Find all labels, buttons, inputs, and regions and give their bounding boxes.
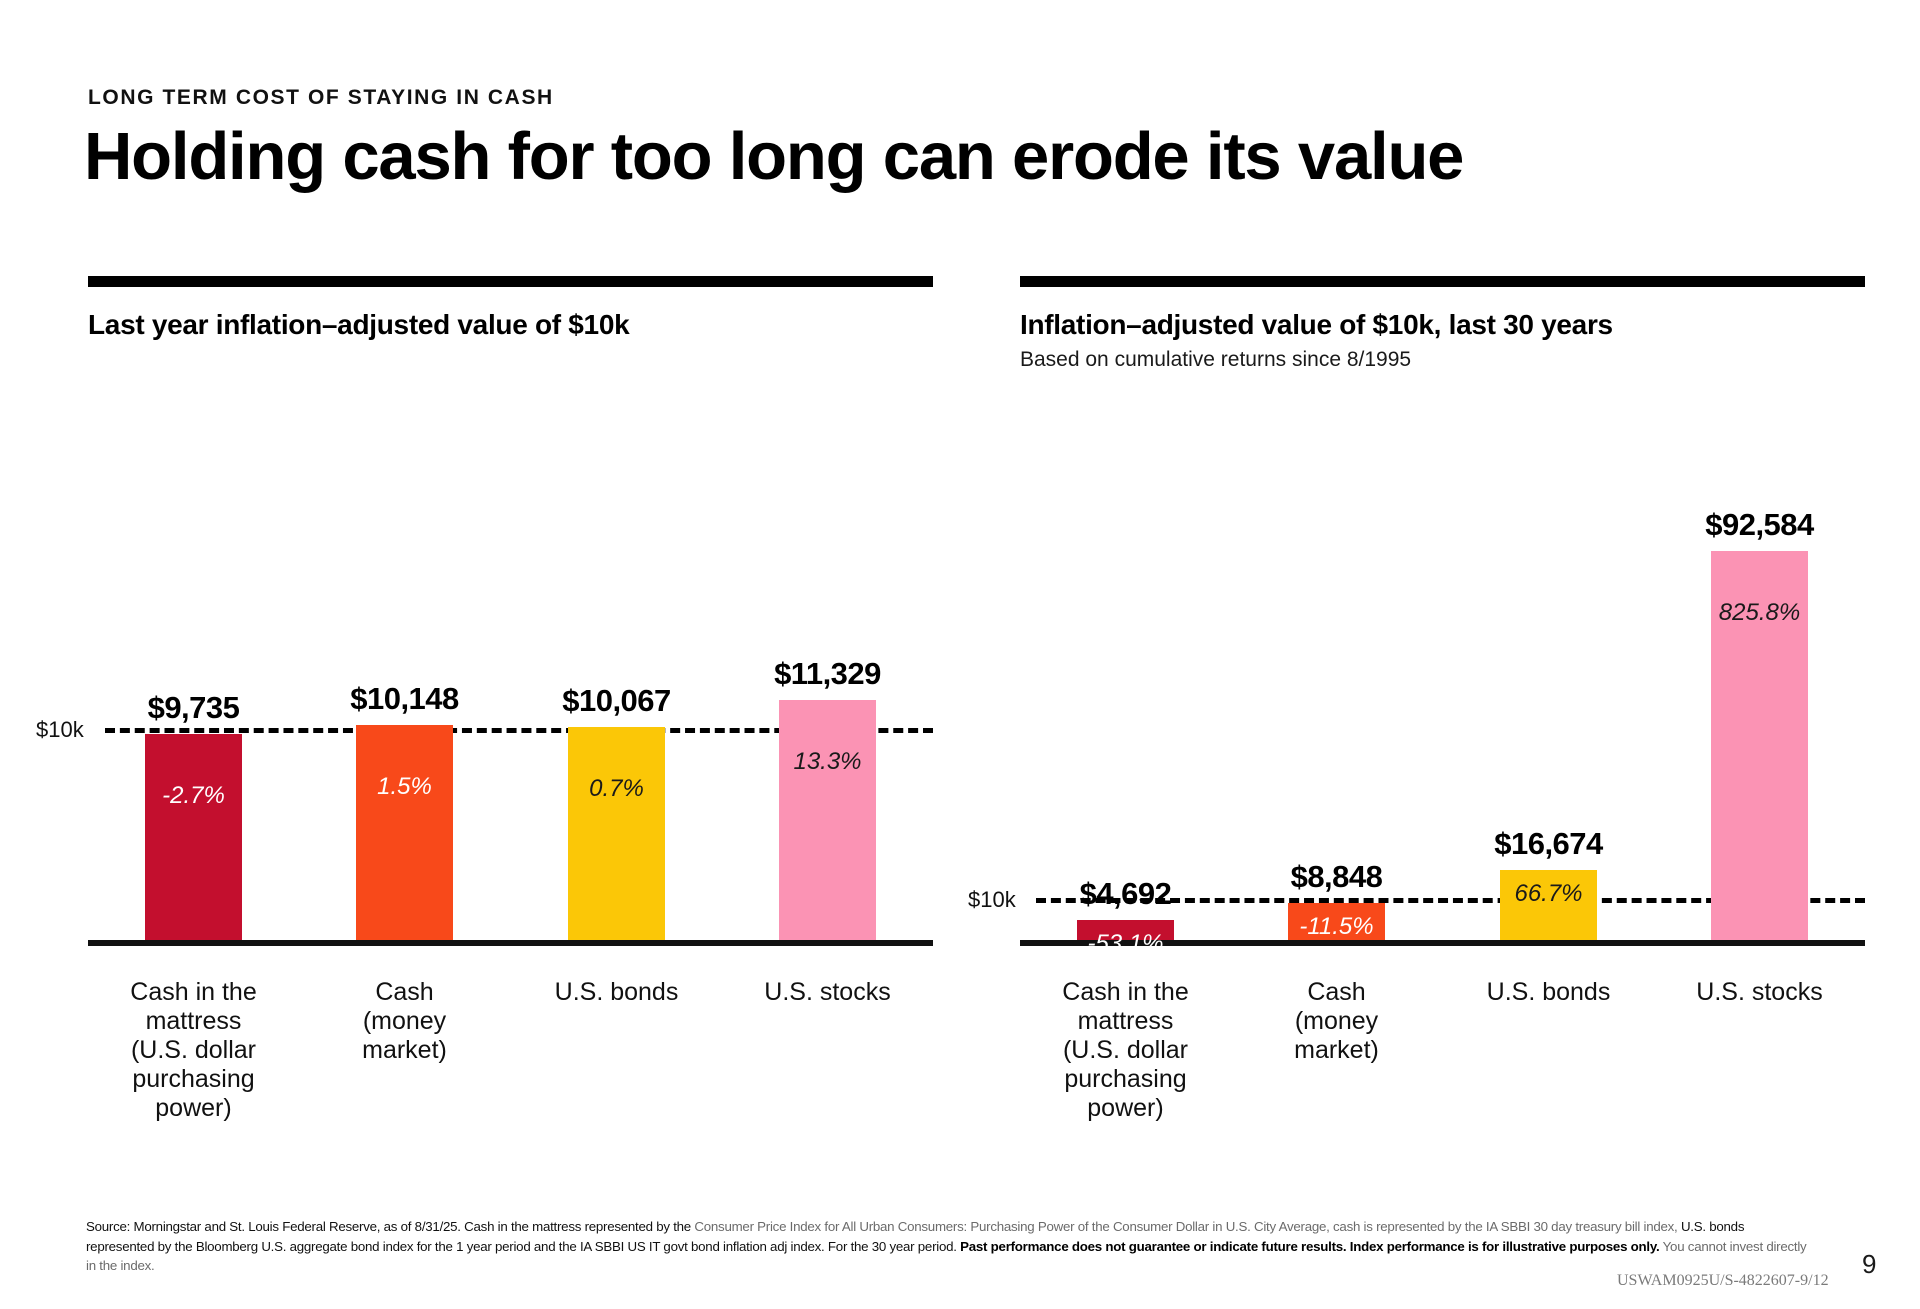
panel-left-rule	[88, 276, 933, 287]
page-title: Holding cash for too long can erode its …	[84, 118, 1463, 195]
bar-pct-label-right-2: 66.7%	[1500, 880, 1597, 908]
page-number: 9	[1862, 1249, 1876, 1280]
panel-left: Last year inflation–adjusted value of $1…	[88, 276, 933, 341]
category-label-left-3: U.S. stocks	[722, 978, 933, 1007]
category-label-right-3: U.S. stocks	[1654, 978, 1865, 1007]
bar-right-1: -11.5%$8,848	[1288, 903, 1385, 940]
bar-left-2: 0.7%$10,067	[568, 727, 665, 940]
source-footnote: Source: Morningstar and St. Louis Federa…	[86, 1217, 1811, 1276]
bar-value-label-right-2: $16,674	[1454, 826, 1643, 862]
source-text-1: Source: Morningstar and St. Louis Federa…	[86, 1219, 694, 1234]
category-label-right-1: Cash (money market)	[1231, 978, 1442, 1065]
eyebrow-label: LONG TERM COST OF STAYING IN CASH	[88, 86, 554, 110]
source-text-4: for the 1 year period and the IA SBBI US…	[417, 1239, 960, 1254]
bar-value-label-left-3: $11,329	[733, 656, 922, 692]
category-label-right-2: U.S. bonds	[1443, 978, 1654, 1007]
panel-right-subtitle: Based on cumulative returns since 8/1995	[1020, 348, 1865, 372]
tracking-code: USWAM0925U/S-4822607-9/12	[1617, 1272, 1829, 1290]
bar-right-3: 825.8%$92,584	[1711, 551, 1808, 940]
bar-left-1: 1.5%$10,148	[356, 725, 453, 940]
source-disclaimer-bold: Past performance does not guarantee or i…	[960, 1239, 1659, 1254]
bar-pct-label-left-2: 0.7%	[568, 775, 665, 803]
bar-value-label-right-1: $8,848	[1242, 859, 1431, 895]
bar-right-0: -53.1%$4,692	[1077, 920, 1174, 940]
category-label-left-2: U.S. bonds	[511, 978, 722, 1007]
bar-value-label-right-0: $4,692	[1031, 876, 1220, 912]
bar-value-label-left-1: $10,148	[310, 681, 499, 717]
left-chart-baseline	[88, 940, 933, 946]
panel-right-rule	[1020, 276, 1865, 287]
bar-left-0: -2.7%$9,735	[145, 734, 242, 940]
bar-pct-label-right-0: -53.1%	[1077, 930, 1174, 958]
right-chart-reference-line	[1036, 898, 1865, 903]
category-label-left-1: Cash (money market)	[299, 978, 510, 1065]
panel-left-title: Last year inflation–adjusted value of $1…	[88, 309, 933, 341]
bar-left-3: 13.3%$11,329	[779, 700, 876, 940]
bar-value-label-right-3: $92,584	[1665, 507, 1854, 543]
bar-pct-label-left-1: 1.5%	[356, 773, 453, 801]
bar-pct-label-right-1: -11.5%	[1288, 913, 1385, 941]
left-chart-reference-label: $10k	[36, 717, 84, 743]
panel-right: Inflation–adjusted value of $10k, last 3…	[1020, 276, 1865, 372]
bar-pct-label-right-3: 825.8%	[1711, 599, 1808, 627]
bar-pct-label-left-0: -2.7%	[145, 782, 242, 810]
chart-layer: $10k $10k -2.7%$9,7351.5%$10,1480.7%$10,…	[0, 0, 1920, 1309]
category-label-right-0: Cash in the mattress (U.S. dollar purcha…	[1020, 978, 1231, 1123]
left-chart-reference-line	[105, 728, 933, 733]
bar-right-2: 66.7%$16,674	[1500, 870, 1597, 940]
bar-pct-label-left-3: 13.3%	[779, 748, 876, 776]
bar-value-label-left-0: $9,735	[99, 690, 288, 726]
bar-value-label-left-2: $10,067	[522, 683, 711, 719]
right-chart-reference-label: $10k	[968, 887, 1016, 913]
right-chart-baseline	[1020, 940, 1865, 946]
source-text-2: Consumer Price Index for All Urban Consu…	[694, 1219, 1681, 1234]
panel-right-title: Inflation–adjusted value of $10k, last 3…	[1020, 309, 1865, 341]
category-label-left-0: Cash in the mattress (U.S. dollar purcha…	[88, 978, 299, 1123]
